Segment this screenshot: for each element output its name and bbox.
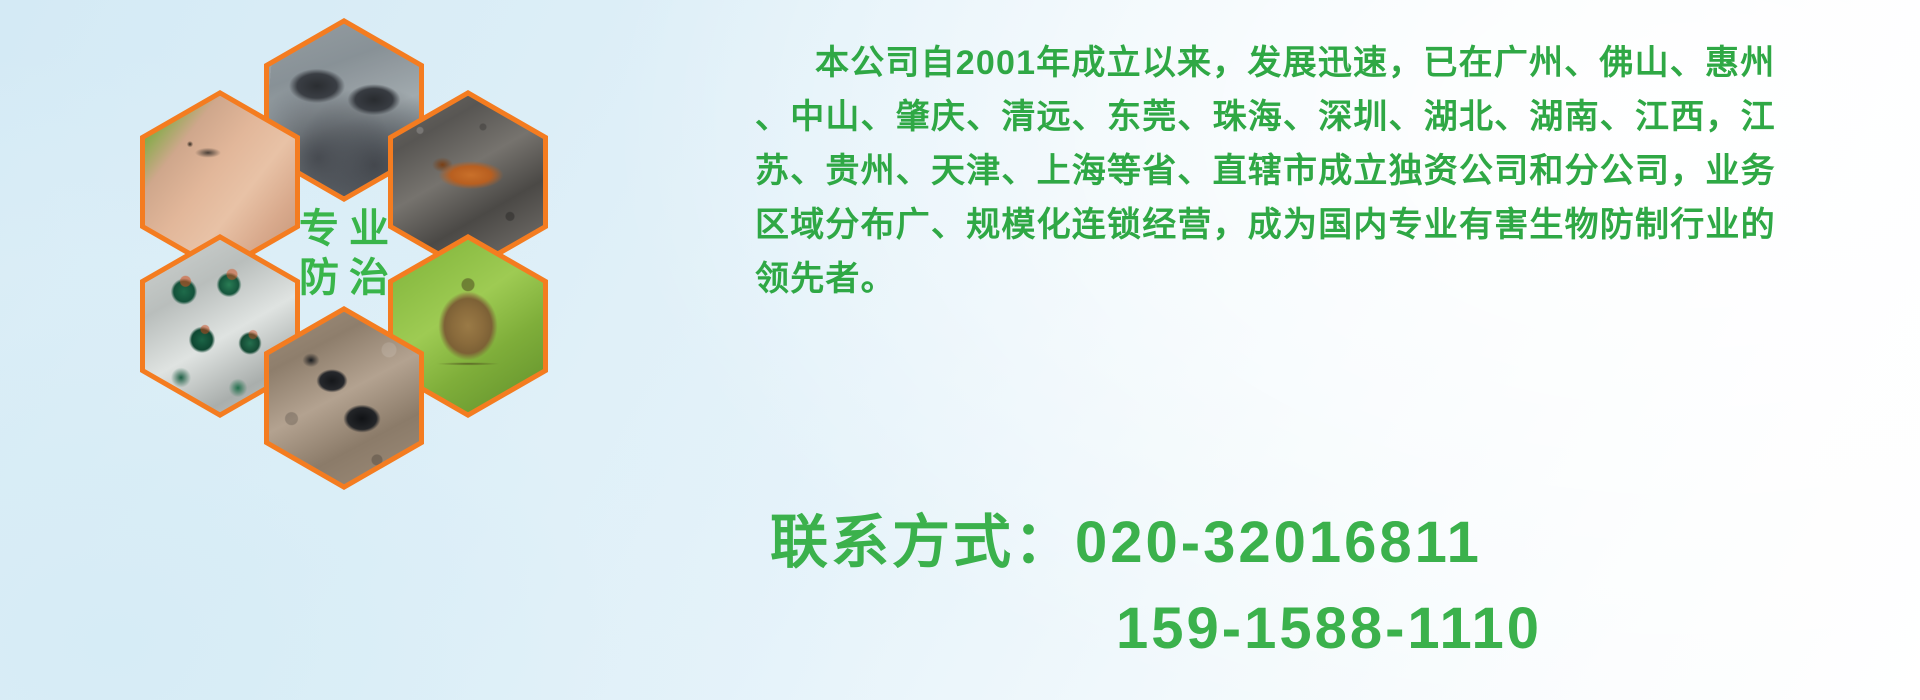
slogan-line-2: 防治 [289,257,399,300]
contact-info: 联系方式：020-32016811 159-1588-1110 [770,500,1542,672]
description-line-2: 、中山、肇庆、清远、东莞、珠海、深圳、湖北、湖南、江西，江 [755,90,1830,144]
contact-phone-primary: 联系方式：020-32016811 [770,500,1542,586]
description-line-4: 区域分布广、规模化连锁经营，成为国内专业有害生物防制行业的 [755,198,1830,252]
hexagon-photo-cluster: 专业 防治 [78,0,598,560]
description-line-1: 本公司自2001年成立以来，发展迅速，已在广州、佛山、惠州 [755,36,1830,90]
description-line-5: 领先者。 [755,252,1830,306]
contact-phone-secondary: 159-1588-1110 [770,586,1542,672]
promotional-banner: 专业 防治 本公司自2001年成立以来，发展迅速，已在广州、佛山、惠州 、中山、… [0,0,1920,700]
slogan-line-1: 专业 [289,208,399,251]
description-line-3: 苏、贵州、天津、上海等省、直辖市成立独资公司和分公司，业务 [755,144,1830,198]
company-description: 本公司自2001年成立以来，发展迅速，已在广州、佛山、惠州 、中山、肇庆、清远、… [755,36,1830,306]
